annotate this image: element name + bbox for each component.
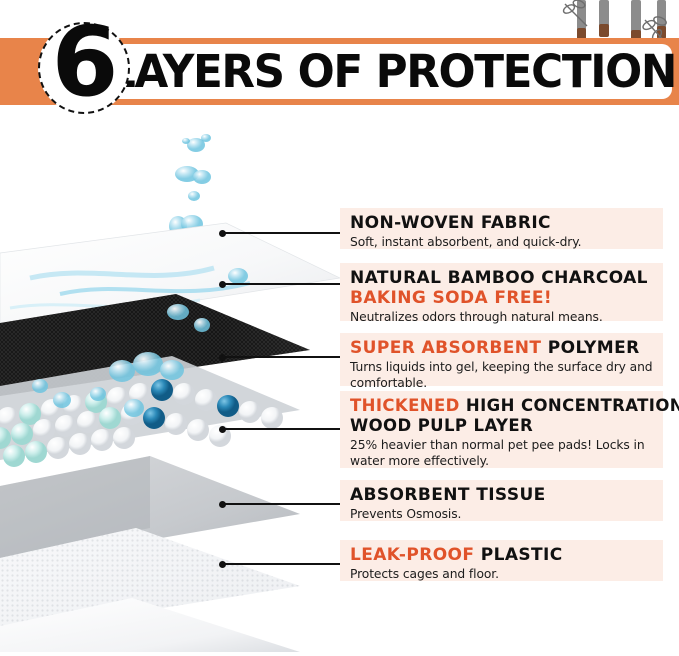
callout-headline: THICKENED HIGH CONCENTRATION	[350, 396, 655, 416]
callout-description: Neutralizes odors through natural means.	[350, 310, 655, 326]
callout-headline: NON-WOVEN FABRIC	[350, 213, 655, 233]
callout-leak-proof-plastic: LEAK-PROOF PLASTIC Protects cages and fl…	[340, 540, 663, 581]
connector-line-absorbent-tissue	[222, 503, 346, 505]
callout-headline-plain: NATURAL BAMBOO CHARCOAL	[350, 268, 648, 288]
callout-wood-pulp-layer: THICKENED HIGH CONCENTRATION WOOD PULP L…	[340, 391, 663, 468]
callout-absorbent-tissue: ABSORBENT TISSUE Prevents Osmosis.	[340, 480, 663, 521]
callout-description: Turns liquids into gel, keeping the surf…	[350, 360, 655, 391]
callout-description: 25% heavier than normal pet pee pads! Lo…	[350, 438, 655, 469]
callout-headline-accent: SUPER ABSORBENT	[350, 338, 541, 358]
callout-headline-plain: ABSORBENT TISSUE	[350, 485, 546, 505]
callout-headline-line2: BAKING SODA FREE!	[350, 288, 655, 308]
callout-description: Soft, instant absorbent, and quick-dry.	[350, 235, 655, 251]
callout-bamboo-charcoal: NATURAL BAMBOO CHARCOAL BAKING SODA FREE…	[340, 263, 663, 321]
connector-dot	[219, 281, 226, 288]
connector-dot	[219, 426, 226, 433]
callout-headline-accent: LEAK-PROOF	[350, 545, 474, 565]
connector-dot	[219, 561, 226, 568]
callout-non-woven-fabric: NON-WOVEN FABRIC Soft, instant absorbent…	[340, 208, 663, 249]
connector-line-leak-proof	[222, 563, 346, 565]
callout-headline: NATURAL BAMBOO CHARCOAL	[350, 268, 655, 288]
header-banner: LAYERS OF PROTECTION 6	[0, 0, 679, 118]
callout-headline: ABSORBENT TISSUE	[350, 485, 655, 505]
callout-headline: LEAK-PROOF PLASTIC	[350, 545, 655, 565]
page-title: LAYERS OF PROTECTION	[108, 43, 661, 100]
connector-dot	[219, 230, 226, 237]
connector-line-polymer	[222, 356, 346, 358]
callout-description: Prevents Osmosis.	[350, 507, 655, 523]
connector-line-non-woven-fabric	[222, 232, 346, 234]
connector-line-bamboo-charcoal	[222, 283, 346, 285]
callout-headline: SUPER ABSORBENT POLYMER	[350, 338, 655, 358]
callout-headline-accent: THICKENED	[350, 396, 460, 415]
callout-headline-plain: POLYMER	[548, 338, 640, 358]
layer-count-number: 6	[30, 4, 140, 118]
callout-headline-plain: NON-WOVEN FABRIC	[350, 213, 551, 233]
connector-line-wood-pulp	[222, 428, 346, 430]
callout-description: Protects cages and floor.	[350, 567, 655, 583]
connector-dot	[219, 501, 226, 508]
callout-headline-plain: PLASTIC	[481, 545, 563, 565]
callout-headline-line2: WOOD PULP LAYER	[350, 416, 655, 436]
callout-super-absorbent-polymer: SUPER ABSORBENT POLYMER Turns liquids in…	[340, 333, 663, 386]
layer-stack-illustration	[0, 118, 340, 652]
callout-headline-plain: HIGH CONCENTRATION	[466, 396, 679, 415]
connector-dot	[219, 354, 226, 361]
